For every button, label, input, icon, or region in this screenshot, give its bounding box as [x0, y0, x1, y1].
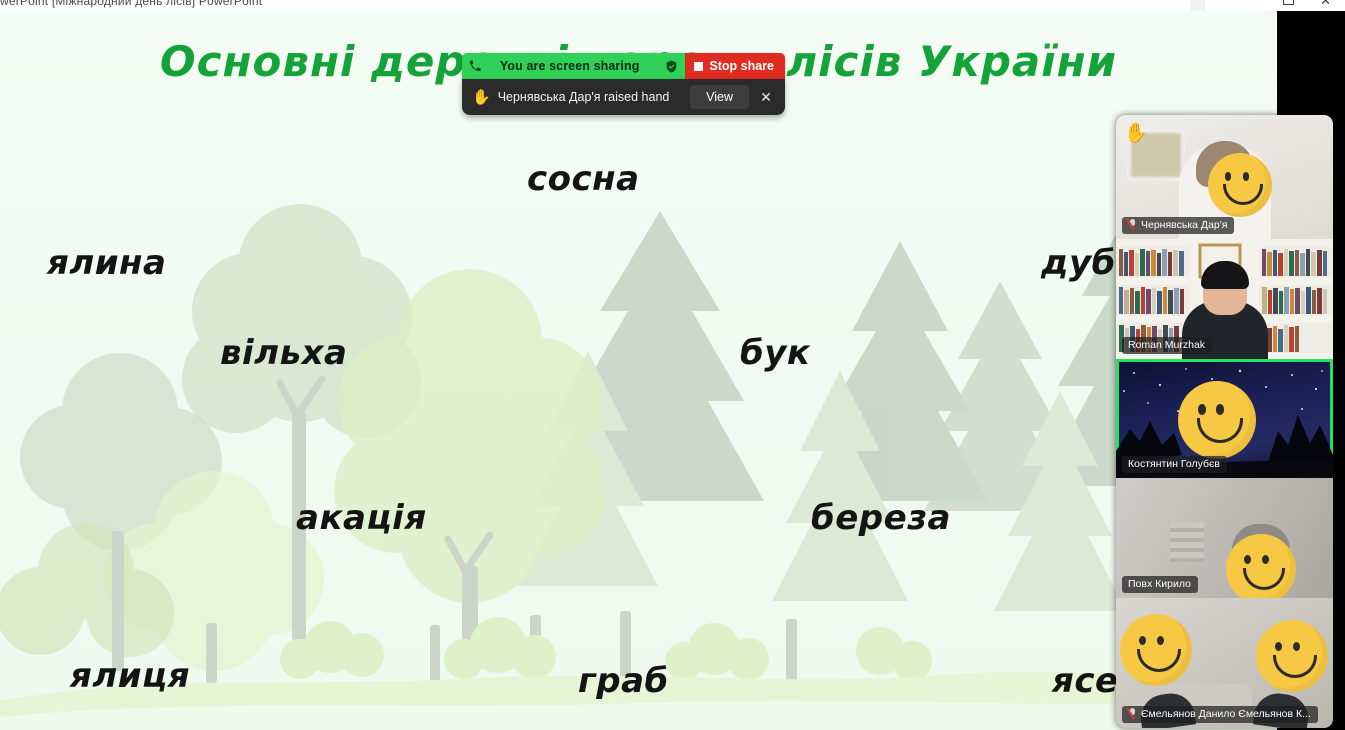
- video-tile-yemelianov[interactable]: Ємельянов Данило Ємельянов К...: [1116, 598, 1333, 728]
- tree-label-hrab: граб: [578, 661, 669, 701]
- restore-icon[interactable]: [1283, 0, 1294, 5]
- phone-icon: [462, 60, 488, 72]
- smiley-overlay-icon: [1256, 620, 1328, 692]
- participant-video-strip[interactable]: ✋ Чернявська Дар'я: [1116, 115, 1333, 728]
- smiley-overlay-icon: [1178, 381, 1256, 459]
- raised-hand-icon: ✋: [1124, 121, 1148, 145]
- tree-label-yalytsia: ялиця: [70, 656, 190, 696]
- participant-nametag: Чернявська Дар'я: [1122, 217, 1234, 234]
- screen-sharing-bar: You are screen sharing Stop share: [462, 53, 785, 79]
- stop-icon: [694, 62, 703, 71]
- raised-hand-notification: ✋ Чернявська Дар'я raised hand View ✕: [462, 79, 785, 115]
- video-tile-murzhak[interactable]: Roman Murzhak: [1116, 239, 1333, 359]
- participant-name: Ємельянов Данило Ємельянов К...: [1141, 708, 1311, 720]
- window-title: werPoint [Міжнародний день лісів] PowerP…: [0, 0, 262, 8]
- tree-label-yalyna: ялина: [47, 243, 167, 283]
- mic-muted-icon: [1128, 708, 1137, 720]
- window-controls: ✕: [1205, 0, 1345, 11]
- tree-label-vilkha: вільха: [220, 333, 347, 373]
- forest-illustration: [0, 11, 1277, 730]
- tree-label-bereza: береза: [811, 498, 951, 538]
- video-tile-povkh[interactable]: Повх Кирило: [1116, 478, 1333, 598]
- close-icon[interactable]: ✕: [755, 89, 777, 106]
- stop-share-label: Stop share: [709, 59, 774, 73]
- view-button[interactable]: View: [690, 85, 749, 109]
- participant-name: Roman Murzhak: [1128, 339, 1205, 351]
- participant-nametag: Повх Кирило: [1122, 576, 1198, 593]
- smiley-overlay-icon: [1208, 153, 1272, 217]
- tree-label-sosna: сосна: [527, 159, 640, 199]
- mic-muted-icon: [1128, 219, 1137, 231]
- video-tile-holubiev[interactable]: Костянтин Голубєв: [1116, 359, 1333, 478]
- stop-share-button[interactable]: Stop share: [685, 53, 785, 79]
- participant-name: Чернявська Дар'я: [1141, 219, 1227, 231]
- participant-nametag: Костянтин Голубєв: [1122, 456, 1227, 473]
- close-icon[interactable]: ✕: [1320, 0, 1331, 7]
- participant-nametag: Roman Murzhak: [1122, 337, 1212, 354]
- slide-canvas: Основні деревні породи лісів України сос…: [0, 11, 1277, 730]
- raised-hand-icon: ✋: [472, 88, 491, 106]
- screen-sharing-label: You are screen sharing: [488, 59, 657, 73]
- video-tile-cherniavska[interactable]: ✋ Чернявська Дар'я: [1116, 115, 1333, 239]
- participant-nametag: Ємельянов Данило Ємельянов К...: [1122, 706, 1318, 723]
- notification-text: Чернявська Дар'я raised hand: [498, 90, 690, 104]
- shield-icon[interactable]: [657, 60, 685, 73]
- participant-name: Повх Кирило: [1128, 578, 1191, 590]
- smiley-overlay-icon: [1226, 534, 1296, 598]
- radiator: [1170, 522, 1204, 562]
- tree-label-buk: бук: [740, 333, 810, 373]
- tree-label-dub: дуб: [1041, 243, 1116, 283]
- tree-label-akatsiia: акація: [296, 498, 427, 538]
- smiley-overlay-icon: [1120, 614, 1192, 686]
- screen: werPoint [Міжнародний день лісів] PowerP…: [0, 0, 1345, 730]
- participant-name: Костянтин Голубєв: [1128, 458, 1220, 470]
